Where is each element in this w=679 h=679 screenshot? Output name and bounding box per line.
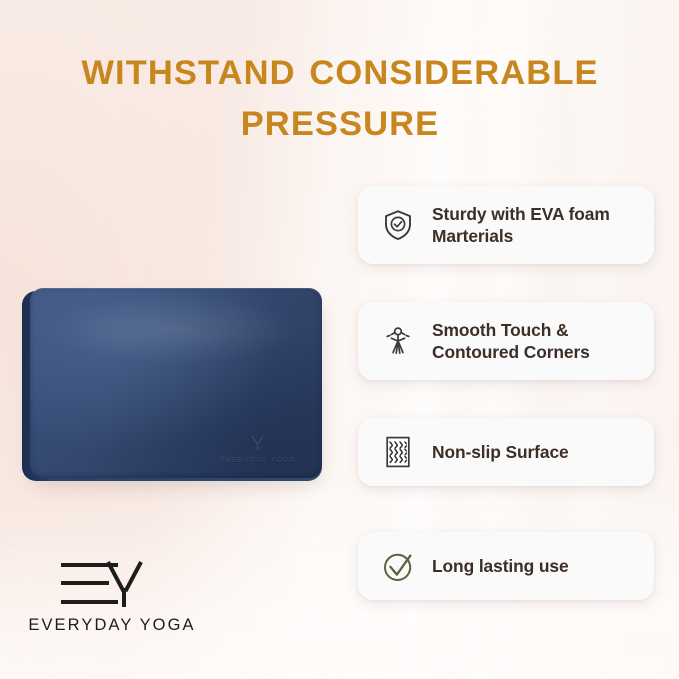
textured-surface-icon — [378, 431, 418, 473]
feature-card-sturdy[interactable]: Sturdy with EVA foam Marterials — [358, 186, 654, 264]
product-top-face: Y EVERYDAY YOGA — [30, 288, 322, 478]
product-embossed-logo: Y EVERYDAY YOGA — [212, 435, 304, 464]
product-feature-infographic: WITHSTAND CONSIDERABLE PRESSURE Y EVERYD… — [0, 0, 679, 679]
brand-logo: EVERYDAY YOGA — [22, 558, 202, 635]
feature-label: Long lasting use — [432, 555, 569, 577]
embossed-monogram: Y — [212, 435, 304, 454]
feature-label: Non-slip Surface — [432, 441, 569, 463]
shield-check-icon — [378, 204, 418, 246]
product-image: Y EVERYDAY YOGA — [22, 288, 322, 484]
feature-label: Sturdy with EVA foam Marterials — [432, 203, 640, 248]
brand-monogram-ey — [57, 558, 167, 608]
headline: WITHSTAND CONSIDERABLE PRESSURE — [50, 48, 630, 149]
feature-card-non-slip[interactable]: Non-slip Surface — [358, 418, 654, 486]
feature-label: Smooth Touch & Contoured Corners — [432, 319, 640, 364]
monogram-bar — [61, 600, 118, 604]
monogram-bar — [61, 581, 109, 585]
embossed-brand-name: EVERYDAY YOGA — [212, 455, 304, 464]
feature-card-list: Sturdy with EVA foam Marterials — [358, 186, 654, 600]
monogram-y-stem — [122, 588, 126, 607]
circle-check-icon — [378, 545, 418, 587]
feature-card-long-lasting[interactable]: Long lasting use — [358, 532, 654, 600]
product-highlight — [48, 294, 298, 364]
feature-card-smooth-touch[interactable]: Smooth Touch & Contoured Corners — [358, 302, 654, 380]
brand-name: EVERYDAY YOGA — [22, 616, 202, 635]
vitruvian-figure-icon — [378, 320, 418, 362]
monogram-y-stroke — [124, 561, 143, 592]
